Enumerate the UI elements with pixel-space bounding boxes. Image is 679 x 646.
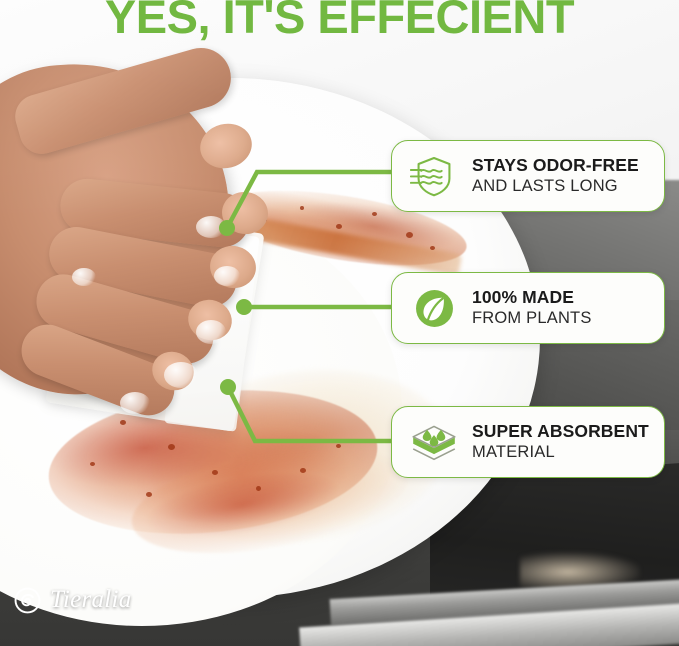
brand-name: Tieralia: [50, 586, 132, 614]
soap-suds: [196, 320, 226, 344]
spice-speck: [300, 468, 306, 473]
feature-subtitle: FROM PLANTS: [472, 308, 652, 329]
shield-waves-icon: [406, 148, 462, 204]
soap-suds: [164, 362, 198, 388]
brand-logo: Tieralia: [14, 586, 132, 614]
feature-title: SUPER ABSORBENT: [472, 421, 652, 442]
spice-speck: [212, 470, 218, 475]
spice-speck: [300, 206, 304, 210]
spice-speck: [336, 224, 342, 229]
feature-card-odor-free[interactable]: STAYS ODOR-FREE AND LASTS LONG: [391, 140, 665, 212]
page-title: YES, IT'S EFFECIENT: [0, 0, 679, 45]
feature-card-text: 100% MADE FROM PLANTS: [462, 287, 652, 329]
soap-suds: [196, 216, 226, 238]
feature-card-plant-based[interactable]: 100% MADE FROM PLANTS: [391, 272, 665, 344]
spice-speck: [406, 232, 413, 238]
soap-suds: [214, 266, 240, 286]
spice-speck: [146, 492, 152, 497]
spice-speck: [430, 246, 435, 250]
spice-speck: [120, 420, 126, 425]
spiral-swirl-icon: [14, 587, 41, 614]
soap-suds: [120, 392, 150, 414]
feature-card-text: STAYS ODOR-FREE AND LASTS LONG: [462, 155, 652, 197]
leaf-circle-icon: [406, 280, 462, 336]
product-feature-image: YES, IT'S EFFECIENT STAYS ODOR-FREE AND …: [0, 0, 679, 646]
feature-subtitle: AND LASTS LONG: [472, 176, 652, 197]
feature-card-absorbent[interactable]: SUPER ABSORBENT MATERIAL: [391, 406, 665, 478]
feature-title: STAYS ODOR-FREE: [472, 155, 652, 176]
spice-speck: [90, 462, 95, 466]
feature-title: 100% MADE: [472, 287, 652, 308]
spice-speck: [336, 444, 341, 448]
spice-speck: [168, 444, 175, 450]
soap-suds: [72, 268, 96, 286]
spice-speck: [372, 212, 377, 216]
absorbent-layers-icon: [406, 414, 462, 470]
spice-speck: [256, 486, 261, 491]
feature-card-text: SUPER ABSORBENT MATERIAL: [462, 421, 652, 463]
feature-subtitle: MATERIAL: [472, 442, 652, 463]
